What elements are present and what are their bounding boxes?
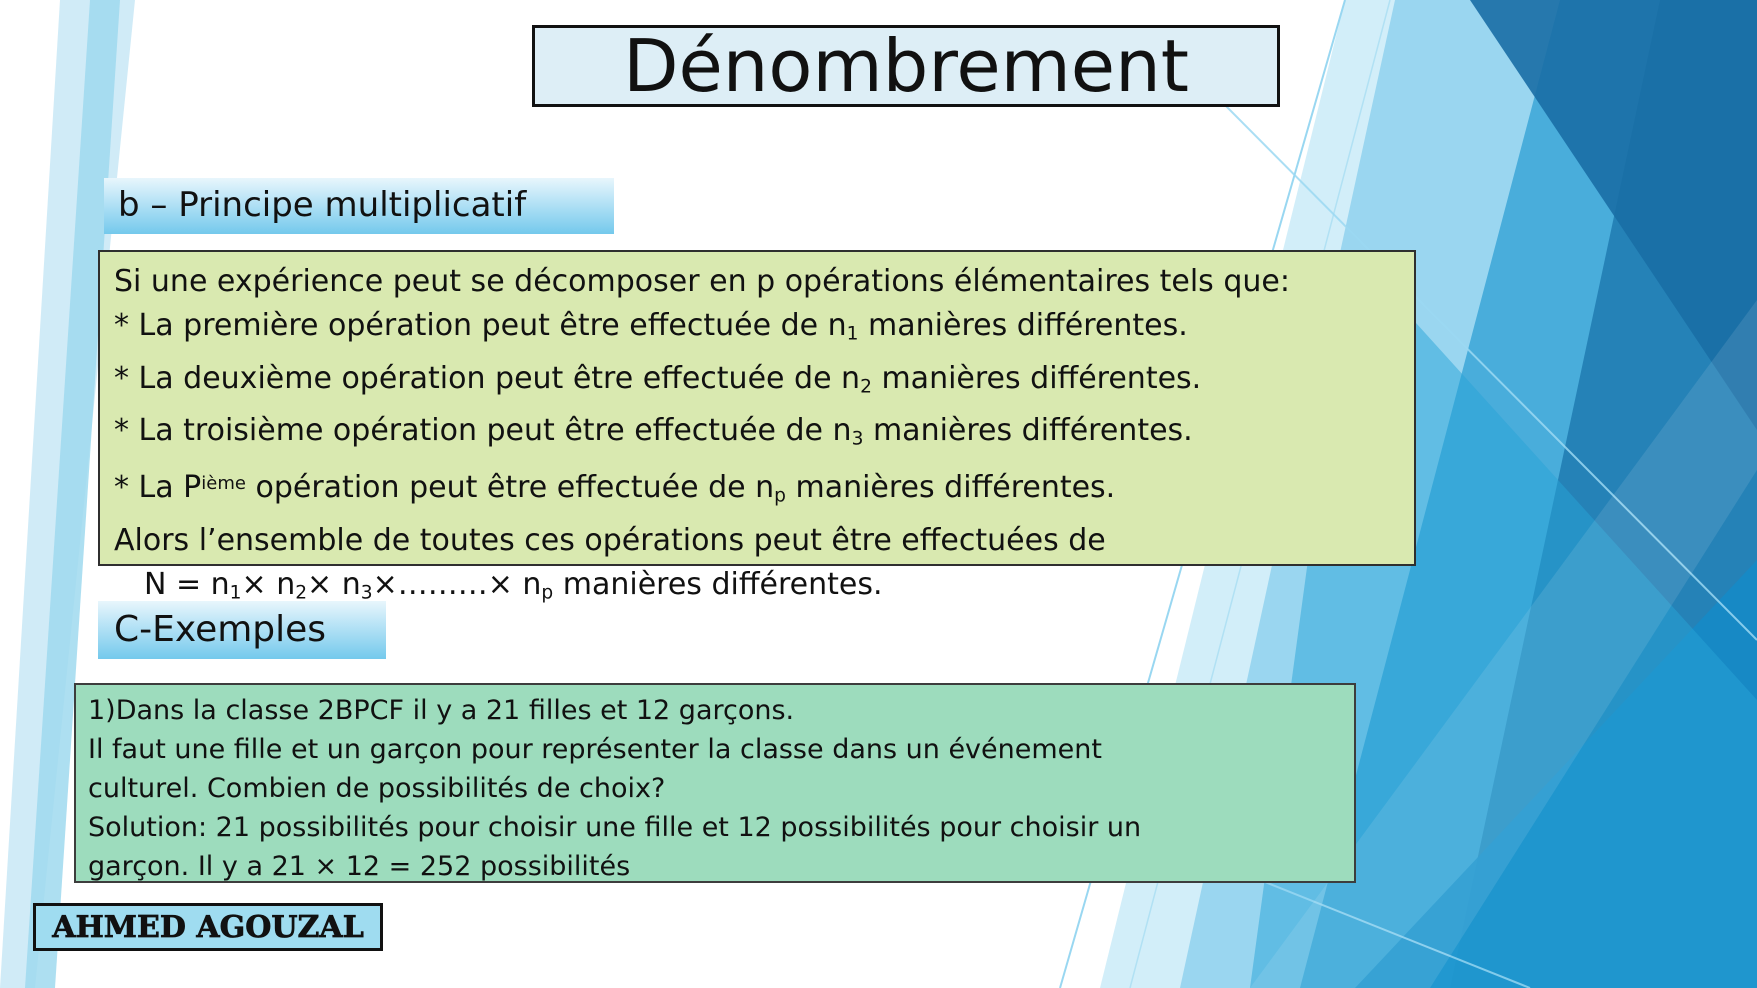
example-line-2: Il faut une fille et un garçon pour repr… [88, 730, 1344, 769]
principle-intro: Si une expérience peut se décomposer en … [114, 260, 1402, 304]
section-header-exemples: C-Exemples [98, 601, 386, 659]
bullet-2-suffix: manières différentes. [872, 361, 1201, 396]
example-line-3: culturel. Combien de possibilités de cho… [88, 769, 1344, 808]
example-line-1: 1)Dans la classe 2BPCF il y a 21 filles … [88, 691, 1344, 730]
example-box: 1)Dans la classe 2BPCF il y a 21 filles … [74, 683, 1356, 883]
slide-title: Dénombrement [532, 25, 1280, 107]
formula-sub-p: p [541, 582, 553, 603]
principle-bullet-2: * La deuxième opération peut être effect… [114, 357, 1402, 410]
bullet-p-post: manières différentes. [786, 470, 1115, 505]
slide: Dénombrement b – Principe multiplicatif … [0, 0, 1757, 988]
principle-bullet-1: * La première opération peut être effect… [114, 304, 1402, 357]
bullet-p-mid: opération peut être effectuée de n [246, 470, 774, 505]
section-header-label-c: C-Exemples [114, 611, 326, 649]
bullet-1-prefix: * La première opération peut être effect… [114, 308, 847, 343]
formula-tail: manières différentes. [553, 567, 882, 602]
bullet-2-sub: 2 [860, 376, 872, 397]
formula-t2: × n [307, 567, 361, 602]
example-line-4: Solution: 21 possibilités pour choisir u… [88, 808, 1344, 847]
example-line-5: garçon. Il y a 21 × 12 = 252 possibilité… [88, 847, 1344, 886]
formula-t1: × n [242, 567, 296, 602]
principle-conclusion: Alors l’ensemble de toutes ces opération… [114, 519, 1402, 563]
slide-title-text: Dénombrement [623, 30, 1189, 102]
bullet-p-sub: p [774, 486, 786, 507]
section-header-label-b: b – Principe multiplicatif [118, 188, 526, 224]
bullet-3-suffix: manières différentes. [863, 413, 1192, 448]
principle-box: Si une expérience peut se décomposer en … [98, 250, 1416, 566]
bullet-3-prefix: * La troisième opération peut être effec… [114, 413, 852, 448]
bullet-1-suffix: manières différentes. [859, 308, 1188, 343]
principle-bullet-3: * La troisième opération peut être effec… [114, 409, 1402, 462]
bullet-3-sub: 3 [852, 429, 864, 450]
bullet-p-sup: ième [201, 473, 246, 494]
bullet-p-pre: * La P [114, 470, 201, 505]
author-name: AHMED AGOUZAL [52, 910, 364, 945]
formula-lead: N = n [144, 567, 230, 602]
author-badge: AHMED AGOUZAL [33, 903, 383, 951]
bullet-2-prefix: * La deuxième opération peut être effect… [114, 361, 860, 396]
bullet-1-sub: 1 [847, 324, 859, 345]
principle-bullet-p: * La Pième opération peut être effectuée… [114, 462, 1402, 519]
section-header-principe-multiplicatif: b – Principe multiplicatif [104, 178, 614, 234]
formula-t3: ×………× n [373, 567, 542, 602]
